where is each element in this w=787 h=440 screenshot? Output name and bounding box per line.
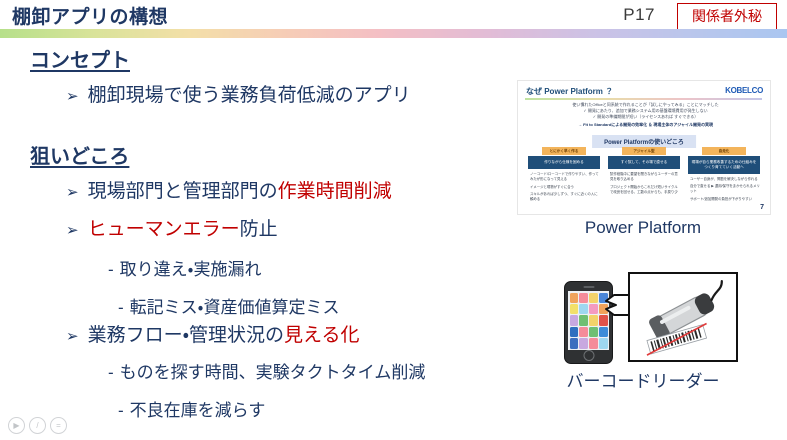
play-circle-icon: ▶: [8, 417, 25, 434]
phone-app-grid: [568, 291, 609, 350]
phone-app-icon-2: [579, 293, 588, 303]
column-note: サポート/追加開発の負担が下がりやすい: [690, 197, 760, 202]
slash-circle-icon: /: [29, 417, 46, 434]
phone-app-icon-10: [579, 315, 588, 325]
column-notes: ユーザー自身が、問題を解決しながら作れる 自分で直せる ▶ 運用/保守をまかせら…: [688, 177, 760, 202]
column-chip: アジャイル型: [622, 147, 666, 155]
equals-circle-icon: =: [50, 417, 67, 434]
bullet-arrow-icon: ➢: [66, 89, 79, 104]
column-box: 作りながら仕様を固める: [528, 156, 600, 169]
thumbnail-divider: [525, 98, 762, 100]
dash-marker: -: [108, 363, 114, 382]
bullet-text: 棚卸現場で使う業務負荷低減のアプリ: [88, 80, 411, 107]
thumbnail-column: とにかく早く作る 作りながら仕様を固める ノーコード/ローコードで作りやすい、作…: [528, 147, 600, 205]
dash-marker: -: [108, 260, 114, 279]
dash-marker: -: [118, 298, 124, 317]
phone-app-icon-20: [599, 338, 608, 348]
barcode-scanner-illustration: [628, 272, 738, 362]
column-note: 試作段階中に要望を聞きながらユーザーの意見を取り込める: [610, 172, 680, 182]
bullet-arrow-icon: ➢: [66, 185, 79, 200]
phone-app-icon-7: [589, 304, 598, 314]
bullet-text-plain: 現場部門と管理部門の: [88, 181, 278, 202]
phone-app-icon-16: [599, 327, 608, 337]
subbullet-aim-2-1: -取り違え・実施漏れ: [108, 255, 261, 280]
bullet-aim-2: ➢ ヒューマンエラー防止: [66, 214, 278, 241]
subbullet-text: 不良在庫を減らす: [130, 401, 266, 420]
thumbnail-title: なぜ Power Platform ？: [526, 86, 613, 97]
bullet-arrow-icon: ➢: [66, 329, 79, 344]
slide-canvas: 棚卸アプリの構想 P17 関係者外秘 コンセプト ➢ 棚卸現場で使う業務負荷低減…: [0, 0, 787, 440]
bullet-aim-3: ➢ 業務フロー・管理状況の見える化: [66, 320, 359, 347]
license-icons: ▶ / =: [8, 417, 67, 434]
page-number-label: P17: [623, 5, 655, 25]
subbullet-text: ものを探す時間、実験タクトタイム削減: [120, 363, 426, 382]
thumbnail-body-line: ✓ 開発の準備期間が短い（ライセンスあれば すぐできる）: [538, 114, 753, 120]
thumbnail-body-conclusion: → Fit to Standardによる開発の効率化 ＆ 現場主体のアジャイル開…: [538, 122, 753, 128]
phone-app-icon-15: [589, 327, 598, 337]
thumbnail-columns: とにかく早く作る 作りながら仕様を固める ノーコード/ローコードで作りやすい、作…: [528, 147, 760, 205]
header-gradient-divider: [0, 29, 787, 38]
subbullet-text: 転記ミス・資産価値算定ミス: [130, 298, 340, 317]
barcode-scanner-icon: [630, 274, 736, 360]
section-heading-concept: コンセプト: [30, 44, 130, 73]
caption-barcode-reader: バーコードリーダー: [517, 367, 769, 392]
bullet-text-accent: 見える化: [284, 325, 359, 346]
phone-app-icon-14: [579, 327, 588, 337]
bullet-text-accent: 作業時間削減: [278, 181, 392, 202]
column-note: イメージと現物がすぐに合う: [530, 185, 600, 190]
bullet-text-accent: ヒューマンエラー: [88, 219, 240, 240]
column-chip: とにかく早く作る: [542, 147, 586, 155]
kobelco-logo: KOBELCO: [725, 86, 763, 95]
bullet-text-plain: 防止: [240, 219, 278, 240]
phone-home-button-icon: [583, 350, 594, 361]
thumbnail-column: 自走化 現場が自ら業務改善するための仕組みをつくり育てていく活動へ ユーザー自身…: [688, 147, 760, 205]
phone-app-icon-3: [589, 293, 598, 303]
bullet-concept-1: ➢ 棚卸現場で使う業務負荷低減のアプリ: [66, 80, 411, 107]
phone-app-icon-17: [570, 338, 579, 348]
phone-app-icon-11: [589, 315, 598, 325]
confidential-badge: 関係者外秘: [677, 3, 777, 30]
page-title: 棚卸アプリの構想: [12, 2, 168, 29]
thumbnail-body: 使い慣れたOfficeと同系統で作れることが「試しにやってみる」ことにマッチした…: [538, 102, 753, 128]
bullet-aim-1: ➢ 現場部門と管理部門の作業時間削減: [66, 176, 392, 203]
column-chip: 自走化: [702, 147, 746, 155]
column-note: プロジェクト開始からこれだけ短いサイクルで改良を回せる、工数の点からも、手戻り少: [610, 185, 680, 195]
phone-speaker: [583, 286, 594, 288]
phone-app-icon-1: [570, 293, 579, 303]
phone-app-icon-13: [570, 327, 579, 337]
phone-app-icon-18: [579, 338, 588, 348]
column-note: ノーコード/ローコードで作りやすい、作ってみたが形になって見える: [530, 172, 600, 182]
phone-app-icon-19: [589, 338, 598, 348]
thumbnail-column: アジャイル型 すぐ試して、その場で直せる 試作段階中に要望を聞きながらユーザーの…: [608, 147, 680, 205]
subbullet-aim-3-2: -不良在庫を減らす: [118, 396, 265, 421]
section-heading-aim: 狙いどころ: [30, 140, 129, 169]
column-note: ユーザー自身が、問題を解決しながら作れる: [690, 177, 760, 182]
column-box: すぐ試して、その場で直せる: [608, 156, 680, 169]
subbullet-text: 取り違え・実施漏れ: [120, 260, 262, 279]
column-note: 自分で直せる ▶ 運用/保守をまかせられるメリット: [690, 184, 760, 194]
bullet-arrow-icon: ➢: [66, 223, 79, 238]
phone-app-icon-9: [570, 315, 579, 325]
thumbnail-page-number: 7: [760, 204, 764, 211]
column-notes: 試作段階中に要望を聞きながらユーザーの意見を取り込める プロジェクト開始からこれ…: [608, 172, 680, 195]
column-note: スキルがあれば少しずつ、すぐに近くの人に頼める: [530, 192, 600, 202]
embedded-slide-thumbnail: なぜ Power Platform ？ KOBELCO 使い慣れたOfficeと…: [517, 80, 771, 215]
subbullet-aim-3-1: -ものを探す時間、実験タクトタイム削減: [108, 358, 425, 383]
phone-app-icon-6: [579, 304, 588, 314]
column-box: 現場が自ら業務改善するための仕組みをつくり育てていく活動へ: [688, 156, 760, 174]
bullet-text: 業務フロー・管理状況の見える化: [88, 320, 360, 347]
bullet-text: ヒューマンエラー防止: [88, 214, 278, 241]
phone-app-icon-5: [570, 304, 579, 314]
bullet-text: 現場部門と管理部門の作業時間削減: [88, 176, 392, 203]
bullet-text-plain: 業務フロー・管理状況の: [88, 325, 284, 346]
dash-marker: -: [118, 401, 124, 420]
column-notes: ノーコード/ローコードで作りやすい、作ってみたが形になって見える イメージと現物…: [528, 172, 600, 203]
subbullet-aim-2-2: -転記ミス・資産価値算定ミス: [118, 293, 339, 318]
caption-power-platform: Power Platform: [517, 218, 769, 238]
